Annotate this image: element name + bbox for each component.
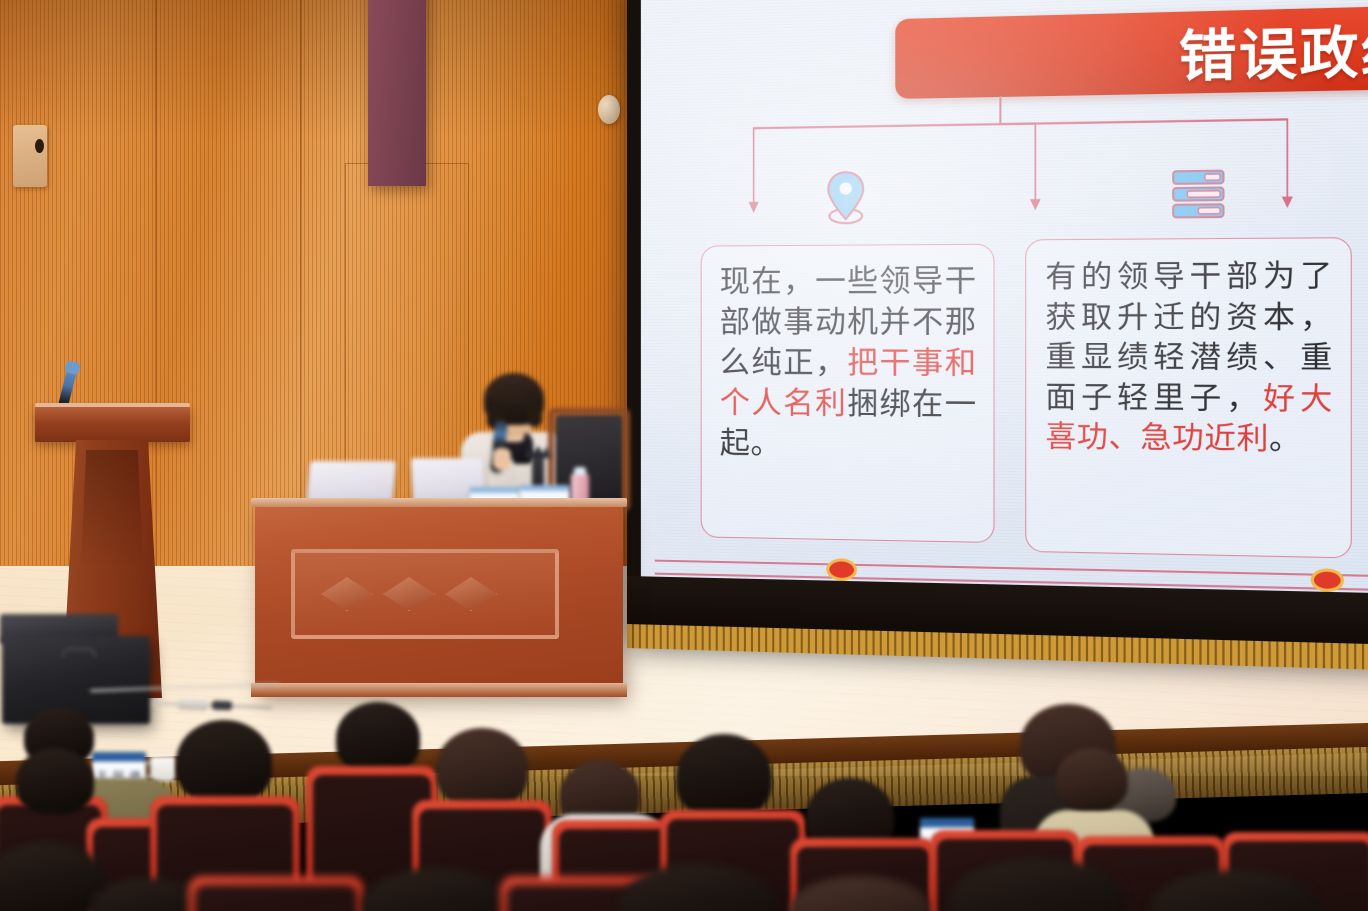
box2-line-5-highlight: 好大 (1263, 380, 1333, 416)
audience-head (1056, 748, 1128, 810)
list-bars-icon (1170, 169, 1227, 220)
desk-diamond-motif (321, 577, 373, 611)
location-pin-icon (822, 168, 869, 226)
box1-line-4-highlight: 把 (847, 345, 879, 381)
slide-dot (1311, 568, 1344, 592)
slide-text-box-2: 有的领导干部为了获取升迁的资本，重显绩轻潜绩、重面子轻里子，好大喜功、急功近利。 (1025, 237, 1352, 558)
audience-head (176, 720, 272, 804)
case-handle (62, 648, 96, 657)
box2-line-1: 有的领导干部为了 (1045, 257, 1333, 294)
projected-slide: 错误政绩观 (641, 0, 1368, 596)
presenter-glasses-icon (492, 400, 536, 409)
slide-text-box-1: 现在，一些领导干部做事动机并不那么纯正，把干事和个人名利捆绑在一起。 (701, 244, 995, 543)
wall-top-shadow (0, 0, 660, 140)
audience-head (436, 728, 528, 808)
audience-head (676, 734, 772, 818)
box2-line-3: 重显绩轻潜绩、重 (1045, 339, 1333, 376)
presenter-hand (493, 448, 511, 470)
desk-diamond-motif (445, 577, 497, 611)
wall-knob-icon (598, 95, 620, 124)
audience-head (336, 702, 420, 774)
white-mug (150, 756, 176, 782)
box1-line-1: 现在，一些领导 (720, 264, 945, 300)
slide-dot (826, 558, 857, 581)
auditorium-seat (188, 876, 364, 911)
box2-line-2: 获取升迁的资本， (1045, 298, 1333, 334)
presenter-desk (255, 505, 623, 695)
box2-line-7: 。 (1269, 421, 1302, 457)
desk-base-trim (251, 683, 627, 697)
box2-line-4: 面子轻里子， (1045, 379, 1263, 416)
presenter-hair (484, 373, 544, 425)
lecture-hall-photo: 错误政绩观 (0, 0, 1368, 911)
desk-side-panel (368, 0, 426, 186)
audience-head (16, 748, 94, 814)
desk-diamond-motif (383, 577, 435, 611)
podium-inset-shadow (78, 450, 146, 570)
audience-area: 王 阿 德 何 益 (0, 700, 1368, 911)
desk-top-lip (251, 498, 627, 507)
projection-screen: 错误政绩观 (627, 0, 1368, 671)
podium-top (35, 406, 190, 442)
wall-speaker-fixture (13, 125, 47, 187)
box2-line-6-highlight: 喜功、急功近利 (1045, 419, 1269, 457)
desk-front-panel (291, 549, 559, 639)
